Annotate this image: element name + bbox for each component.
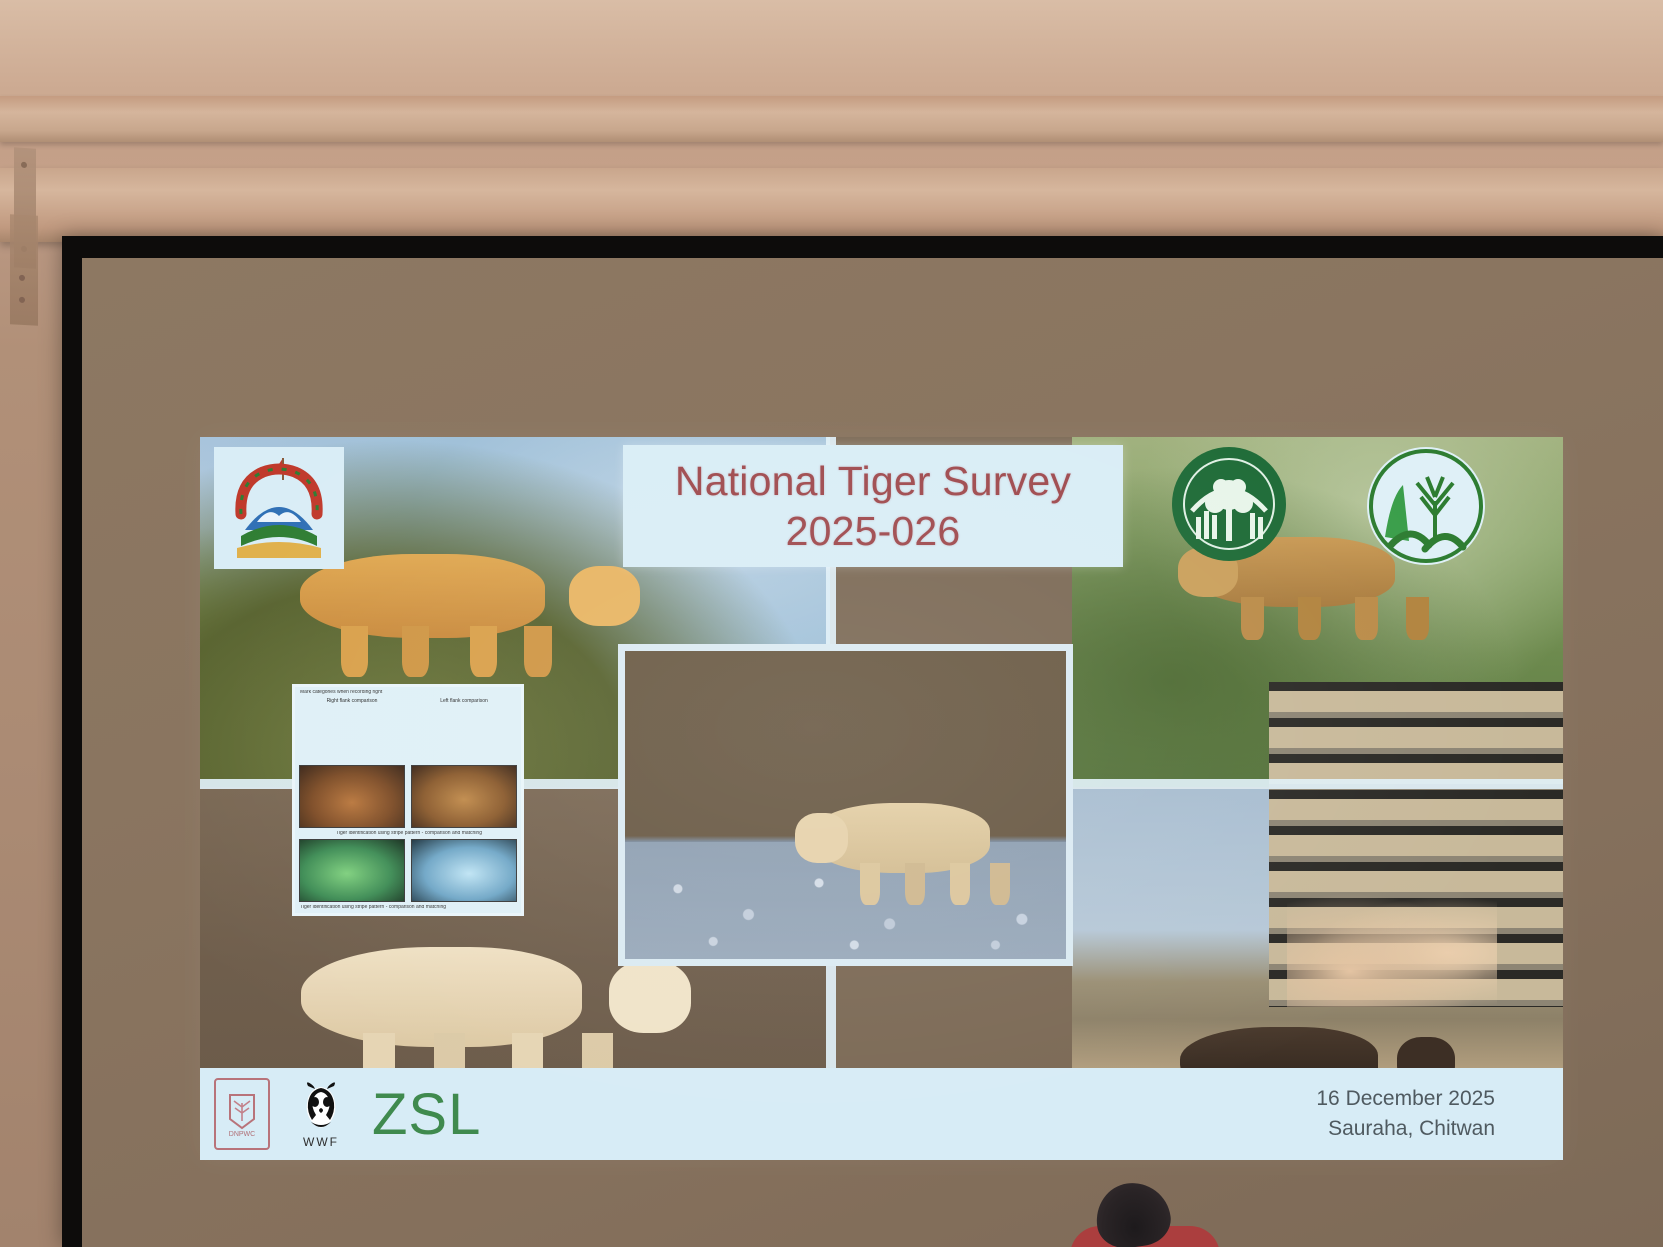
footer-meta: 16 December 2025 Sauraha, Chitwan (1316, 1084, 1495, 1144)
slide-footer: DNPWC (200, 1068, 1563, 1160)
event-location: Sauraha, Chitwan (1316, 1114, 1495, 1144)
id-grid-header-right: Right flank comparison (298, 698, 406, 763)
id-grid-row (298, 838, 518, 903)
flank-photo (299, 765, 405, 828)
presentation-slide: Mark categories when recording right Rig… (200, 437, 1563, 1160)
tiger-flank-id-comparison-grid: Mark categories when recording right Rig… (292, 684, 524, 916)
flank-photo (299, 839, 405, 902)
id-grid-header-left: Left flank comparison (410, 698, 518, 763)
camera-trap-equipment-shelf-photo (1269, 682, 1563, 1007)
event-date: 16 December 2025 (1316, 1084, 1495, 1114)
page-subtitle: 2025-026 (786, 506, 961, 556)
id-grid-caption-bottom: Tiger identification using stripe patter… (298, 905, 518, 911)
id-grid-header-row: Right flank comparison Left flank compar… (298, 698, 518, 763)
id-grid-caption-middle: Tiger identification using stripe patter… (298, 831, 518, 837)
projector-screen-surface: Mark categories when recording right Rig… (82, 258, 1663, 1247)
hands-sorting-equipment (1287, 887, 1497, 1007)
dnpwc-badge: DNPWC (214, 1078, 270, 1150)
screen-mount-rail (0, 168, 1663, 242)
camera-trap-tiger-gravel-photo (618, 644, 1073, 966)
id-grid-cell (298, 838, 406, 903)
wwf-label: WWF (303, 1135, 339, 1149)
zsl-label: ZSL (372, 1081, 481, 1148)
wwf-panda-logo: WWF (296, 1080, 346, 1149)
dnpwc-logo (1170, 445, 1288, 563)
flank-photo (411, 765, 517, 828)
tiger-figure (810, 780, 1060, 905)
dnpwc-badge-label: DNPWC (229, 1131, 255, 1138)
footer-logo-group: DNPWC (214, 1078, 481, 1150)
id-grid-cell (410, 838, 518, 903)
screen-bracket-lower (10, 214, 38, 325)
id-grid-cell (410, 764, 518, 829)
flank-photo (411, 839, 517, 902)
page-title: National Tiger Survey (675, 456, 1071, 506)
slide-title-plate: National Tiger Survey 2025-026 (623, 445, 1123, 567)
projector-screen-frame: Mark categories when recording right Rig… (62, 236, 1663, 1247)
department-of-forests-logo (1365, 445, 1487, 567)
id-grid-cell (298, 764, 406, 829)
screenshot-root: Mark categories when recording right Rig… (0, 0, 1663, 1247)
id-grid-caption-top: Mark categories when recording right (298, 690, 518, 696)
tiger-figure (300, 527, 640, 677)
nepal-government-emblem (214, 447, 344, 569)
wall-cornice (0, 96, 1663, 142)
zsl-logo: ZSL (372, 1081, 481, 1148)
id-grid-row (298, 764, 518, 829)
